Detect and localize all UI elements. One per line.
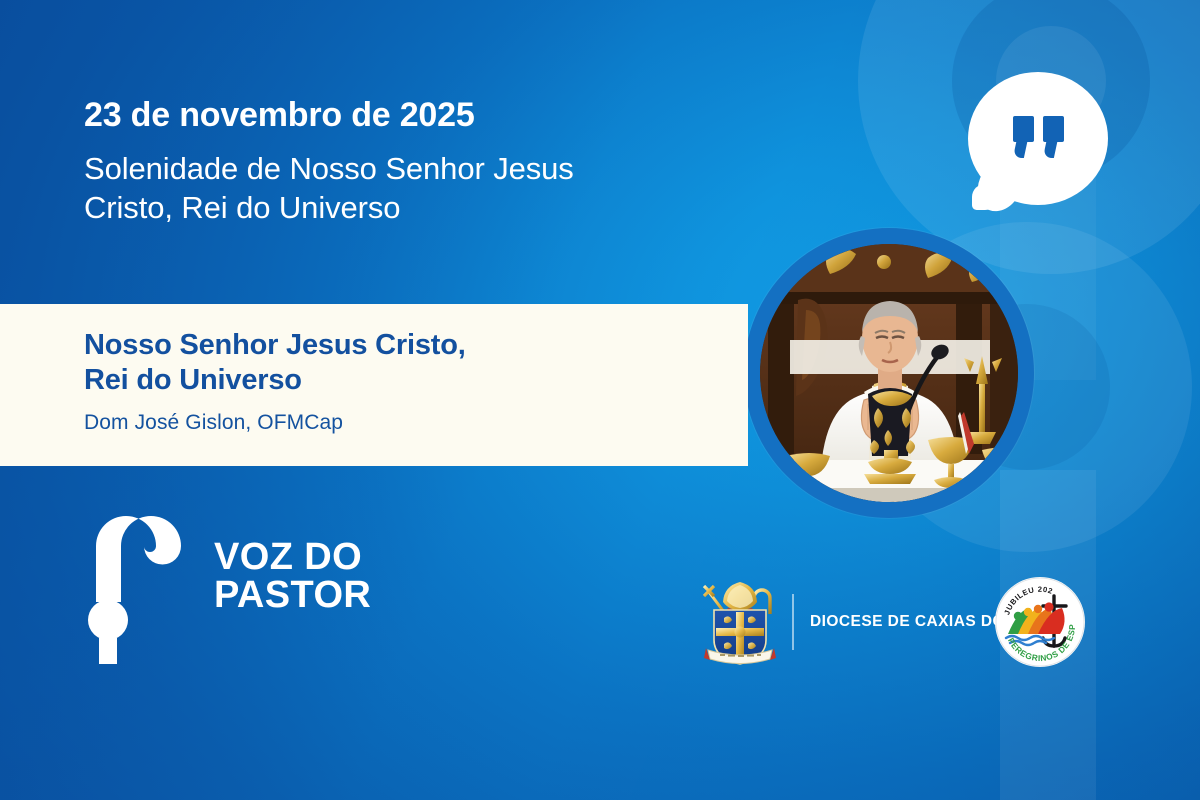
bishop-photo	[760, 244, 1018, 502]
diocese-coat-of-arms-icon	[694, 576, 786, 668]
feast-text: Solenidade de Nosso Senhor Jesus Cristo,…	[84, 150, 744, 228]
quote-marks-icon	[1013, 116, 1064, 158]
title-band-content: Nosso Senhor Jesus Cristo, Rei do Univer…	[84, 328, 724, 435]
homily-title: Nosso Senhor Jesus Cristo, Rei do Univer…	[84, 328, 724, 398]
jubilee-2025-logo-icon: JUBILEU 2025 PEREGRINOS DE ESPERANÇA	[994, 576, 1086, 668]
voz-do-pastor-logo: VOZ DO PASTOR	[86, 508, 386, 668]
quote-mark-right	[1043, 116, 1064, 158]
homily-author: Dom José Gislon, OFMCap	[84, 411, 724, 435]
poster-canvas: 23 de novembro de 2025 Solenidade de Nos…	[0, 0, 1200, 800]
bishop-photo-illustration	[760, 244, 1018, 502]
poster-header: 23 de novembro de 2025 Solenidade de Nos…	[84, 96, 744, 228]
voz-do-pastor-wordmark: VOZ DO PASTOR	[214, 538, 371, 614]
quote-mark-left	[1013, 116, 1034, 158]
jubilee-2025-logo: JUBILEU 2025 PEREGRINOS DE ESPERANÇA	[994, 576, 1086, 668]
lockup-divider	[792, 594, 794, 650]
bishop-photo-ring	[744, 228, 1034, 518]
date-text: 23 de novembro de 2025	[84, 96, 744, 134]
title-band: Nosso Senhor Jesus Cristo, Rei do Univer…	[0, 304, 748, 466]
quote-bubble	[968, 72, 1116, 236]
diocese-lockup: DIOCESE DE CAXIAS DO SUL	[694, 576, 1042, 668]
quote-bubble-body	[968, 72, 1108, 205]
crozier-microphone-icon	[86, 508, 216, 668]
